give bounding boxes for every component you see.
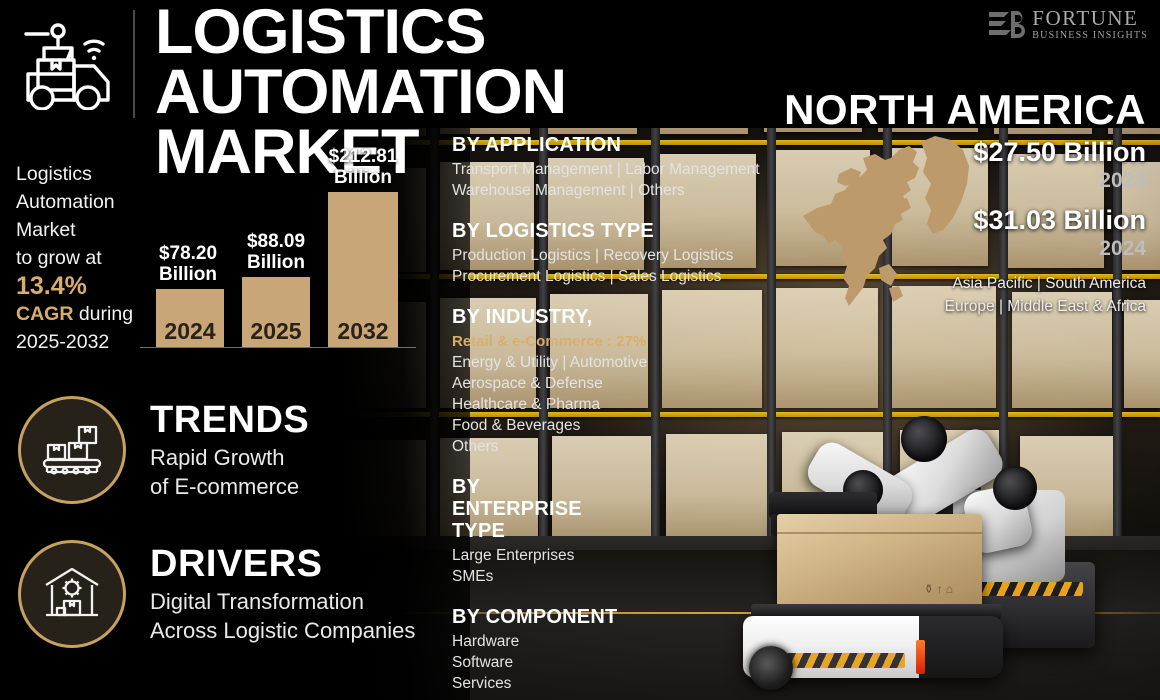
segment-item: Food & Beverages (452, 415, 782, 436)
segment-heading: BY INDUSTRY, (452, 306, 782, 328)
trends-highlight: TRENDS Rapid Growth of E-commerce (18, 396, 309, 504)
drivers-icon-circle (18, 540, 126, 648)
cagr-value: 13.4% (16, 272, 156, 300)
region-statistics: $27.50 Billion 2023 $31.03 Billion 2024 (973, 136, 1146, 272)
header-divider (133, 10, 135, 118)
segment-by-application: BY APPLICATION Transport Management | La… (452, 134, 782, 201)
bar-label-2032: $212.81Billion (312, 146, 414, 188)
region-value: $31.03 Billion (973, 204, 1146, 236)
robot-shoulder-joint (993, 466, 1037, 510)
trends-icon-circle (18, 396, 126, 504)
segment-item: Services (452, 673, 782, 694)
segment-item: Production Logistics | Recovery Logistic… (452, 245, 782, 266)
segment-heading: BY LOGISTICS TYPE (452, 220, 782, 242)
drivers-highlight: DRIVERS Digital Transformation Across Lo… (18, 540, 415, 648)
segment-item: Energy & Utility | Automotive (452, 352, 782, 373)
title-line-1: LOGISTICS AUTOMATION (155, 2, 875, 122)
robot-elbow-joint (901, 416, 947, 462)
trends-description: Rapid Growth of E-commerce (150, 443, 309, 501)
fb-monogram-icon (987, 9, 1025, 41)
segment-item: Software (452, 652, 782, 673)
conveyor-belt-boxes-icon (41, 421, 103, 479)
market-segmentation-list: BY APPLICATION Transport Management | La… (452, 134, 782, 700)
other-regions-list: Asia Pacific | South America Europe | Mi… (945, 272, 1146, 318)
segment-by-industry: BY INDUSTRY, Retail & e-Commerce : 27% E… (452, 306, 782, 457)
delivery-truck-robot-arm-wifi-icon (14, 14, 118, 110)
region-value: $27.50 Billion (973, 136, 1146, 168)
segment-item: Warehouse Management | Others (452, 180, 782, 201)
segment-heading: BY COMPONENT (452, 606, 782, 628)
blurb-line-3: Market (16, 216, 156, 244)
cagr-during: during (73, 303, 133, 325)
bar-year-2025: 2025 (242, 318, 310, 345)
blurb-line-1: Logistics (16, 160, 156, 188)
segment-by-enterprise-type: BY ENTERPRISE TYPE Large Enterprises SME… (452, 476, 612, 587)
region-title: NORTH AMERICA (784, 86, 1146, 134)
fortune-business-insights-logo[interactable]: FORTUNE BUSINESS INSIGHTS (987, 8, 1148, 41)
warehouse-gear-boxes-icon (42, 565, 102, 623)
segment-heading: BY APPLICATION (452, 134, 782, 156)
robot-arm-agv-illustration: ⚱↑⌂ (735, 330, 1160, 700)
segment-item: Procurement Logistics | Sales Logistics (452, 266, 782, 287)
logo-sub-text: BUSINESS INSIGHTS (1032, 31, 1148, 41)
cagr-label: CAGR (16, 303, 73, 325)
drivers-title: DRIVERS (150, 544, 415, 584)
segment-item: SMEs (452, 566, 612, 587)
blurb-line-4: to grow at (16, 244, 156, 272)
trends-title: TRENDS (150, 400, 309, 440)
market-size-bar-chart: $78.20Billion 2024 $88.09Billion 2025 $2… (146, 140, 414, 355)
blurb-line-2: Automation (16, 188, 156, 216)
cagr-line: CAGR during (16, 300, 156, 328)
segment-item: Large Enterprises (452, 545, 612, 566)
market-summary-text: Logistics Automation Market to grow at 1… (16, 160, 156, 356)
bar-year-2032: 2032 (328, 318, 398, 345)
drivers-description: Digital Transformation Across Logistic C… (150, 587, 415, 645)
other-regions-line-2: Europe | Middle East & Africa (945, 295, 1146, 318)
segment-by-component: BY COMPONENT Hardware Software Services (452, 606, 782, 694)
segment-item: Transport Management | Labor Management (452, 159, 782, 180)
region-year: 2024 (973, 236, 1146, 262)
segment-top-share: Retail & e-Commerce : 27% (452, 331, 782, 352)
segment-heading: BY ENTERPRISE TYPE (452, 476, 612, 542)
segment-by-logistics-type: BY LOGISTICS TYPE Production Logistics |… (452, 220, 782, 287)
bar-label-2025: $88.09Billion (228, 231, 324, 273)
bar-year-2024: 2024 (156, 318, 224, 345)
segment-item: Aerospace & Defense (452, 373, 782, 394)
infographic-canvas: ⚱↑⌂ LOGISTICS (0, 0, 1160, 700)
bar-label-2024: $78.20Billion (142, 243, 234, 285)
logo-main-text: FORTUNE (1032, 8, 1148, 29)
region-year: 2023 (973, 168, 1146, 194)
box-handling-symbols: ⚱↑⌂ (924, 582, 956, 596)
forecast-period: 2025-2032 (16, 328, 156, 356)
segment-item: Hardware (452, 631, 782, 652)
segment-item: Healthcare & Pharma (452, 394, 782, 415)
cardboard-box: ⚱↑⌂ (777, 514, 982, 606)
other-regions-line-1: Asia Pacific | South America (945, 272, 1146, 295)
segment-item: Others (452, 436, 782, 457)
